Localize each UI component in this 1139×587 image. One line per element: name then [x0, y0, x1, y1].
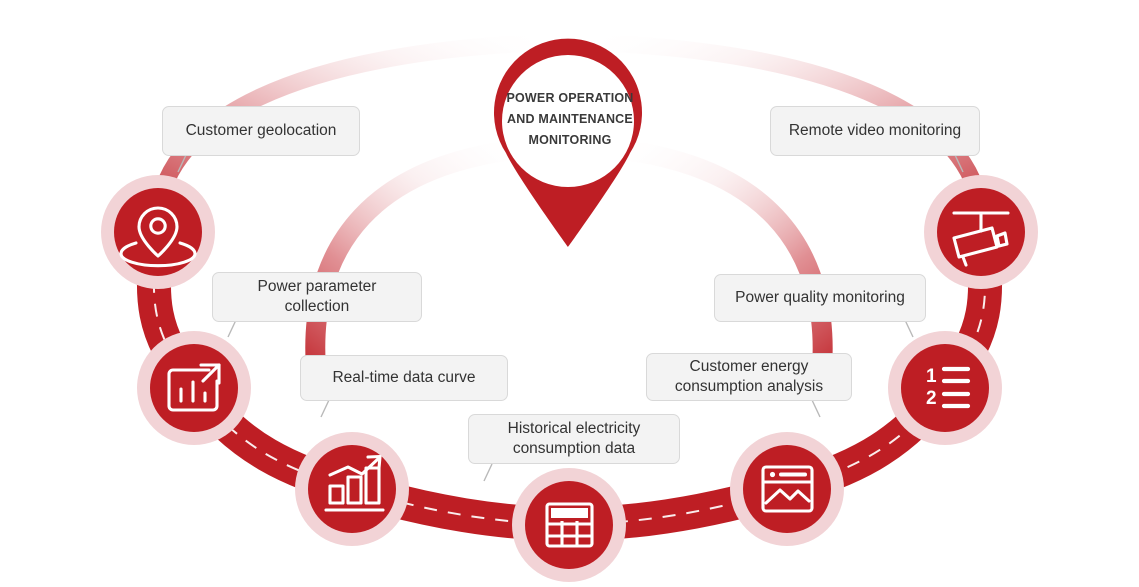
label-text-line-1: Power parameter: [258, 277, 377, 297]
label-text-line-1: Historical electricity: [508, 419, 641, 439]
label-text: Remote video monitoring: [789, 121, 961, 141]
label-power-quality-monitoring[interactable]: Power quality monitoring: [714, 274, 926, 322]
label-text-line-2: consumption data: [508, 439, 641, 459]
label-realtime-data-curve[interactable]: Real-time data curve: [300, 355, 508, 401]
pin-inner-circle: [502, 55, 634, 187]
label-remote-video-monitoring[interactable]: Remote video monitoring: [770, 106, 980, 156]
label-text-line-2: collection: [258, 297, 377, 317]
label-text-line-1: Customer energy: [675, 357, 823, 377]
label-text: Real-time data curve: [332, 368, 475, 388]
label-power-parameter-collection[interactable]: Power parameter collection: [212, 272, 422, 322]
svg-text:2: 2: [926, 388, 937, 409]
label-customer-geolocation[interactable]: Customer geolocation: [162, 106, 360, 156]
label-text: Customer geolocation: [186, 121, 337, 141]
node-disc-realtime-curve[interactable]: [308, 445, 396, 533]
label-text: Power quality monitoring: [735, 288, 905, 308]
node-disc-energy-analysis[interactable]: [743, 445, 831, 533]
node-disc-power-quality[interactable]: [901, 344, 989, 432]
center-map-pin[interactable]: [480, 25, 660, 255]
label-customer-energy-analysis[interactable]: Customer energy consumption analysis: [646, 353, 852, 401]
diagram-canvas: 1 2 POWER: [0, 0, 1139, 587]
svg-text:1: 1: [926, 366, 937, 387]
label-historical-consumption-data[interactable]: Historical electricity consumption data: [468, 414, 680, 464]
label-text-line-2: consumption analysis: [675, 377, 823, 397]
